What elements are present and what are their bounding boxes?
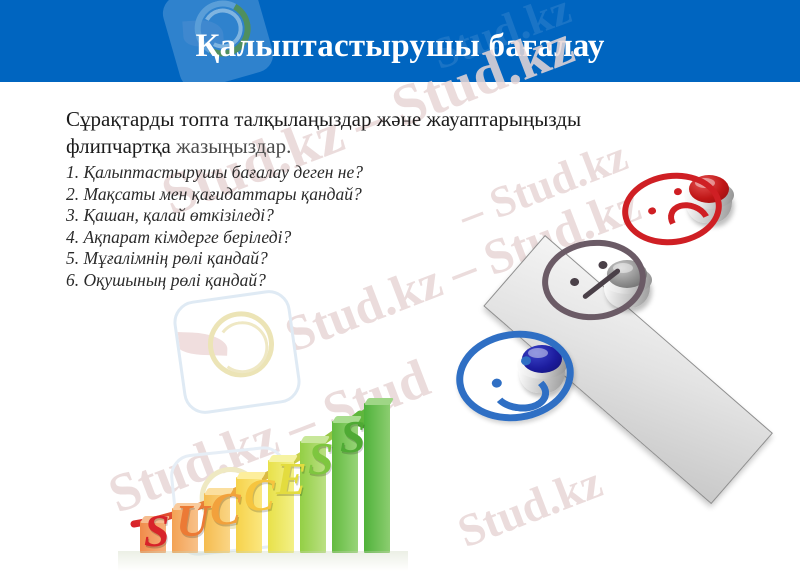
success-letter: S bbox=[308, 436, 334, 482]
page-title: Қалыптастырушы бағалау bbox=[0, 26, 800, 66]
logo-watermark-inner-ring bbox=[213, 318, 272, 377]
feedback-panel-illustration bbox=[450, 165, 800, 535]
chart-bar bbox=[364, 403, 390, 553]
title-banner: Stud.kz Қалыптастырушы бағалау bbox=[0, 0, 800, 82]
logo-watermark-outer-ring bbox=[204, 307, 279, 382]
success-chart-illustration: S U C C E S S bbox=[118, 400, 408, 571]
success-letter: U bbox=[176, 498, 209, 544]
success-letter: C bbox=[244, 472, 275, 518]
success-letter: S bbox=[340, 414, 366, 460]
success-letter: S bbox=[144, 508, 170, 554]
intro-line-2: флипчартқа жазыңыздар. bbox=[66, 133, 646, 160]
intro-line-2-part2: жазыңыздар. bbox=[176, 134, 291, 158]
face-eye-left bbox=[648, 207, 657, 215]
intro-line-2-part1: флипчартқа bbox=[66, 134, 176, 158]
face-eye-left bbox=[570, 278, 580, 287]
slide-canvas: Stud.kz Қалыптастырушы бағалау Stud.kz –… bbox=[0, 0, 800, 571]
face-eye-right bbox=[674, 188, 683, 196]
face-mouth-frown bbox=[663, 196, 716, 244]
success-letter: C bbox=[210, 486, 241, 532]
face-mouth-flat bbox=[582, 268, 621, 300]
face-eye-right bbox=[520, 356, 531, 366]
intro-line-1: Сұрақтарды топта талқылаңыздар және жауа… bbox=[66, 106, 646, 133]
body-logo-watermark-icon bbox=[171, 287, 304, 416]
logo-watermark-wing bbox=[175, 332, 228, 356]
face-mouth-smile bbox=[489, 369, 551, 415]
chart-bar-top bbox=[364, 398, 394, 405]
success-letter: E bbox=[276, 456, 307, 502]
face-eye-right bbox=[598, 261, 608, 270]
